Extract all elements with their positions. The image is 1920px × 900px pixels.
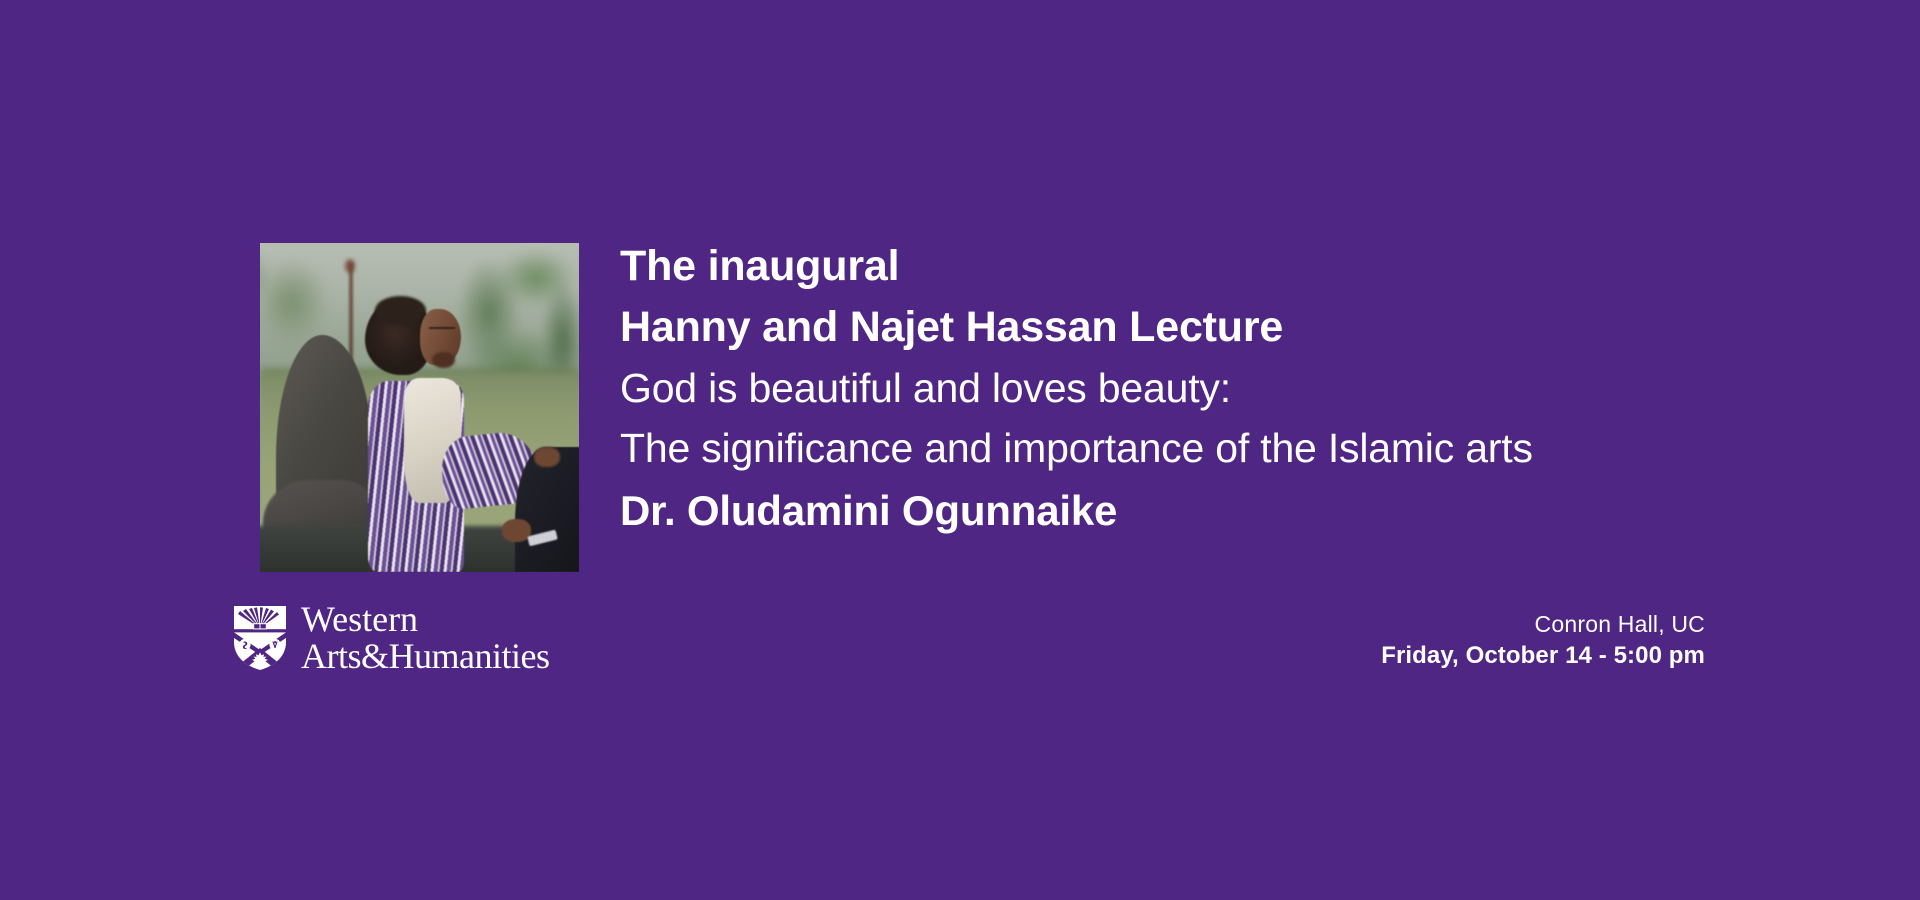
speaker-name: Dr. Oludamini Ogunnaike xyxy=(620,478,1740,542)
lecture-title-line-1: God is beautiful and loves beauty: xyxy=(620,358,1740,418)
event-datetime: Friday, October 14 - 5:00 pm xyxy=(1381,640,1705,672)
poster-text-block: The inaugural Hanny and Najet Hassan Lec… xyxy=(620,236,1740,542)
photo-figure-glasses xyxy=(429,327,455,336)
western-shield-crest-icon xyxy=(232,604,288,672)
logo-wordmark: Western Arts&Humanities xyxy=(301,601,549,675)
speaker-portrait-photo xyxy=(260,243,579,572)
lecture-title-line-2: The significance and importance of the I… xyxy=(620,418,1740,478)
headline-line-1: The inaugural xyxy=(620,236,1740,297)
event-poster: The inaugural Hanny and Najet Hassan Lec… xyxy=(0,0,1920,900)
western-arts-humanities-logo: Western Arts&Humanities xyxy=(232,601,549,675)
headline-line-2: Hanny and Najet Hassan Lecture xyxy=(620,297,1740,358)
photo-figure-hand-upper xyxy=(534,447,560,467)
photo-seated-figure xyxy=(260,243,579,572)
photo-figure-beard xyxy=(432,352,454,368)
photo-figure-hair-top xyxy=(375,296,426,326)
logo-wordmark-line-2: Arts&Humanities xyxy=(301,638,549,675)
event-venue: Conron Hall, UC xyxy=(1381,608,1705,640)
logo-wordmark-line-1: Western xyxy=(301,601,549,638)
event-details: Conron Hall, UC Friday, October 14 - 5:0… xyxy=(1381,608,1705,672)
